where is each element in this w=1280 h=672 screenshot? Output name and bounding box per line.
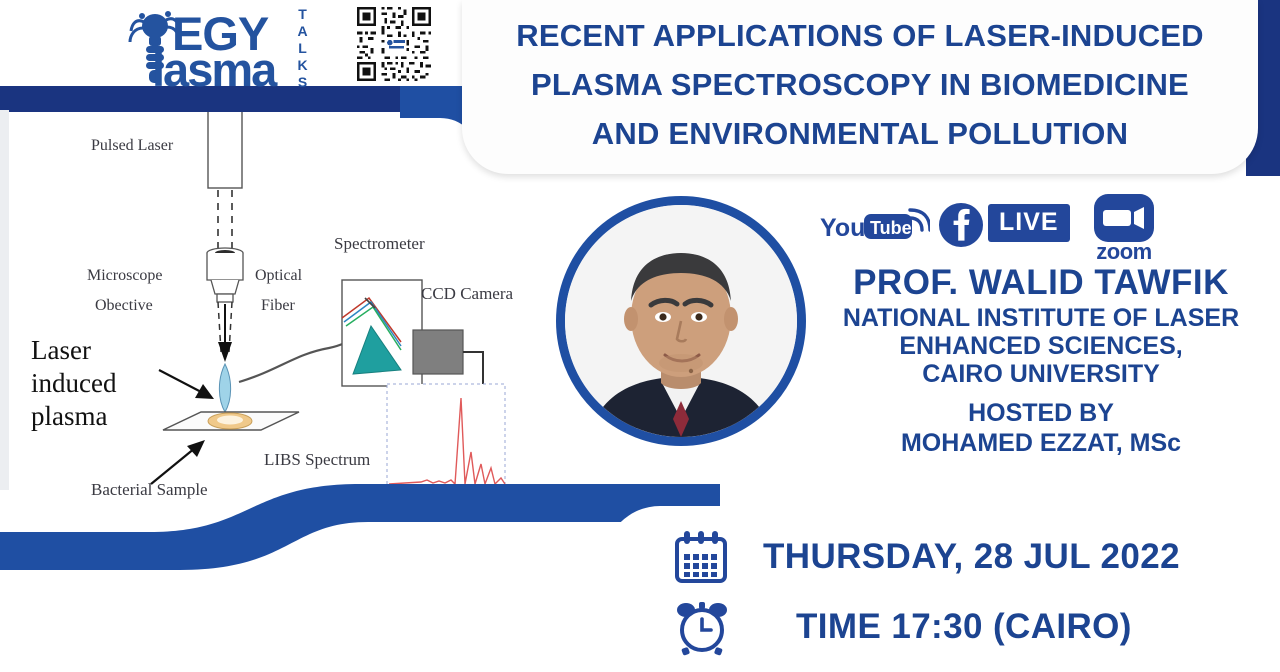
logo-brand-bottom: lasma: [152, 42, 275, 97]
social-platforms: You Tube LIVE zoom: [816, 192, 1166, 262]
title-line-3: AND ENVIRONMENTAL POLLUTION: [592, 109, 1128, 158]
poster-header: EGY lasma TALKS: [0, 0, 1280, 88]
event-datetime-panel: THURSDAY, 28 JUL 2022 TIME 17:30 (CAIRO): [604, 506, 1280, 672]
title-line-1: RECENT APPLICATIONS OF LASER-INDUCED: [516, 11, 1204, 60]
facebook-logo-svg: [938, 202, 984, 248]
alarm-clock-icon: [674, 598, 730, 656]
label-ccd-camera: CCD Camera: [421, 284, 513, 304]
calendar-icon: [672, 528, 730, 586]
speaker-name: PROF. WALID TAWFIK: [806, 262, 1276, 304]
svg-text:Tube: Tube: [870, 218, 912, 238]
label-objective: Obective: [95, 297, 153, 315]
label-libs-spectrum: LIBS Spectrum: [264, 450, 370, 470]
label-optical-fiber-line1: Optical: [255, 267, 302, 285]
hosted-by-label: HOSTED BY: [806, 398, 1276, 428]
title-line-2: PLASMA SPECTROSCOPY IN BIOMEDICINE: [531, 60, 1189, 109]
speaker-affiliation-line3: CAIRO UNIVERSITY: [806, 360, 1276, 388]
speaker-affiliation-line2: ENHANCED SCIENCES,: [806, 332, 1276, 360]
host-name: MOHAMED EZZAT, MSc: [806, 428, 1276, 458]
webinar-poster: EGY lasma TALKS: [0, 0, 1280, 672]
event-date-text: THURSDAY, 28 JUL 2022: [763, 537, 1180, 577]
label-optical-fiber-line2: Fiber: [261, 297, 295, 315]
event-time-text: TIME 17:30 (CAIRO): [796, 607, 1132, 647]
qr-code-icon[interactable]: [338, 4, 450, 84]
live-badge: LIVE: [988, 204, 1070, 242]
left-gray-strip: [0, 110, 9, 490]
youtube-icon[interactable]: You Tube: [820, 206, 930, 253]
label-laser-induced-2: induced: [31, 367, 116, 400]
brand-logo[interactable]: EGY lasma TALKS: [128, 2, 328, 88]
label-spectrometer: Spectrometer: [334, 234, 425, 254]
speaker-affiliation-line1: NATIONAL INSTITUTE OF LASER: [806, 304, 1276, 332]
poster-title: RECENT APPLICATIONS OF LASER-INDUCED PLA…: [462, 0, 1258, 174]
event-time-row: TIME 17:30 (CAIRO): [674, 598, 1132, 656]
svg-text:You: You: [820, 214, 865, 242]
logo-talks-label: TALKS: [291, 6, 315, 91]
label-laser-induced-1: Laser: [31, 334, 91, 367]
speaker-photo: [556, 196, 806, 446]
speaker-info: PROF. WALID TAWFIK NATIONAL INSTITUTE OF…: [806, 262, 1276, 458]
label-microscope: Microscope: [87, 267, 163, 285]
qr-code-svg: [338, 4, 450, 84]
label-laser-induced-3: plasma: [31, 400, 107, 433]
footer-white-fill: [0, 578, 620, 672]
label-pulsed-laser: Pulsed Laser: [91, 137, 173, 155]
youtube-logo-svg: You Tube: [820, 206, 930, 248]
facebook-icon[interactable]: [938, 202, 984, 253]
event-date-row: THURSDAY, 28 JUL 2022: [672, 528, 1180, 586]
speaker-photo-svg: [565, 205, 797, 437]
